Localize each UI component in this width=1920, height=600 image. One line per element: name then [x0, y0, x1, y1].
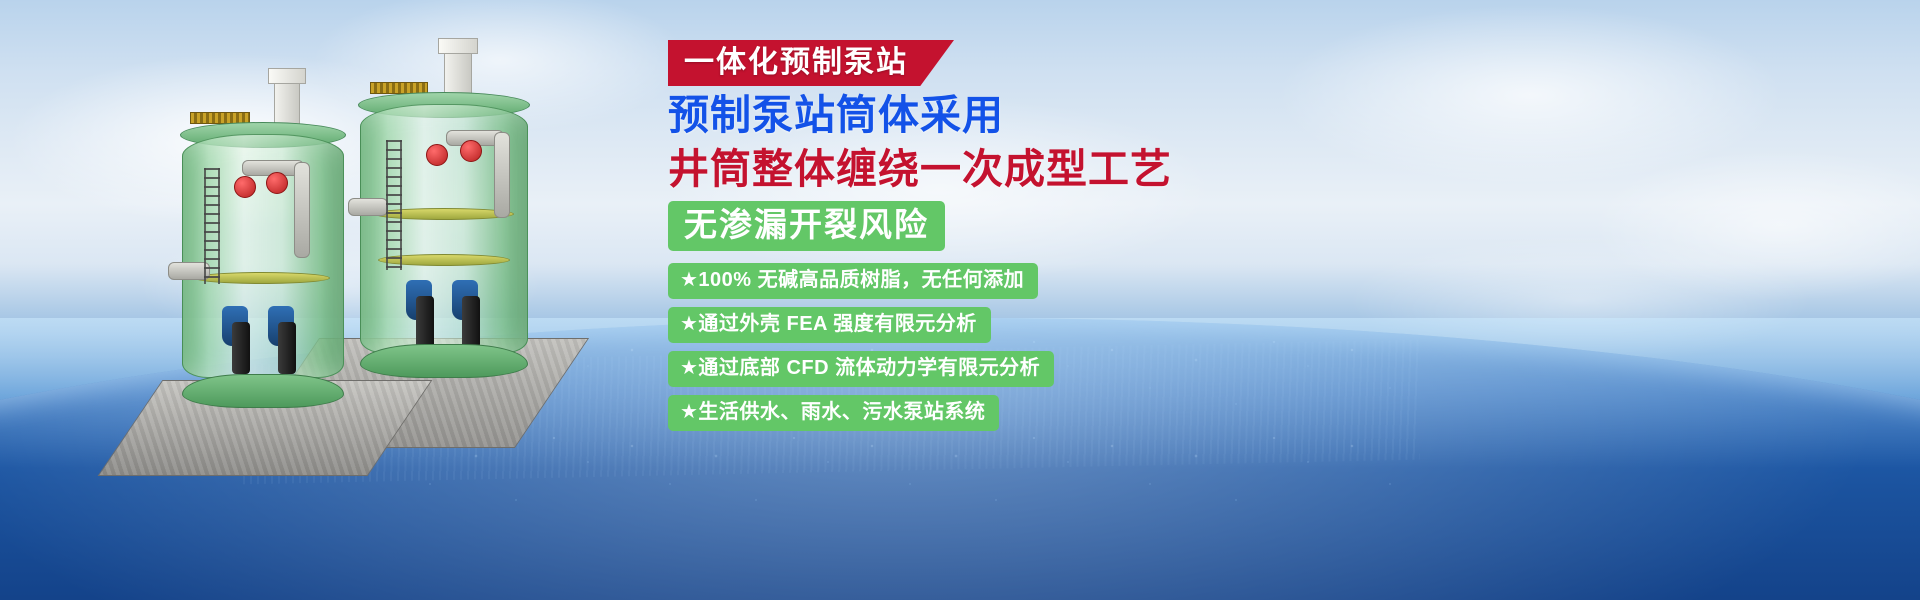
pump-motor: [462, 296, 480, 348]
list-item: ★通过底部 CFD 流体动力学有限元分析: [668, 351, 1054, 387]
valve-handwheel: [234, 176, 256, 198]
access-ladder: [386, 140, 402, 270]
valve-handwheel: [460, 140, 482, 162]
access-ladder: [204, 168, 220, 284]
pump-station-unit-front: [182, 90, 344, 408]
riser-pipe: [294, 162, 310, 258]
tank-base-ring: [360, 344, 528, 378]
pump-station-unit-back: [360, 48, 528, 378]
valve-handwheel: [426, 144, 448, 166]
pump-motor: [278, 322, 296, 374]
feature-bullet-list: ★100% 无碱高品质树脂，无任何添加 ★通过外壳 FEA 强度有限元分析 ★通…: [668, 263, 1308, 439]
vent-cap: [438, 38, 478, 54]
headline-line-1: 预制泵站筒体采用: [668, 92, 1308, 140]
product-category-tag: 一体化预制泵站: [668, 40, 954, 86]
key-benefit-badge: 无渗漏开裂风险: [668, 201, 945, 251]
list-item: ★100% 无碱高品质树脂，无任何添加: [668, 263, 1038, 299]
banner-copy: 一体化预制泵站 预制泵站筒体采用 井筒整体缠绕一次成型工艺 无渗漏开裂风险 ★1…: [668, 40, 1308, 439]
list-item: ★生活供水、雨水、污水泵站系统: [668, 395, 999, 431]
vent-cap: [268, 68, 306, 84]
pump-motor: [416, 296, 434, 348]
headline-line-2: 井筒整体缠绕一次成型工艺: [668, 146, 1308, 194]
product-illustration: [120, 28, 640, 488]
pump-motor: [232, 322, 250, 374]
valve-handwheel: [266, 172, 288, 194]
promo-banner: 一体化预制泵站 预制泵站筒体采用 井筒整体缠绕一次成型工艺 无渗漏开裂风险 ★1…: [0, 0, 1920, 600]
riser-pipe: [494, 132, 510, 218]
list-item: ★通过外壳 FEA 强度有限元分析: [668, 307, 991, 343]
inlet-pipe: [348, 198, 388, 216]
tank-base-ring: [182, 374, 344, 408]
